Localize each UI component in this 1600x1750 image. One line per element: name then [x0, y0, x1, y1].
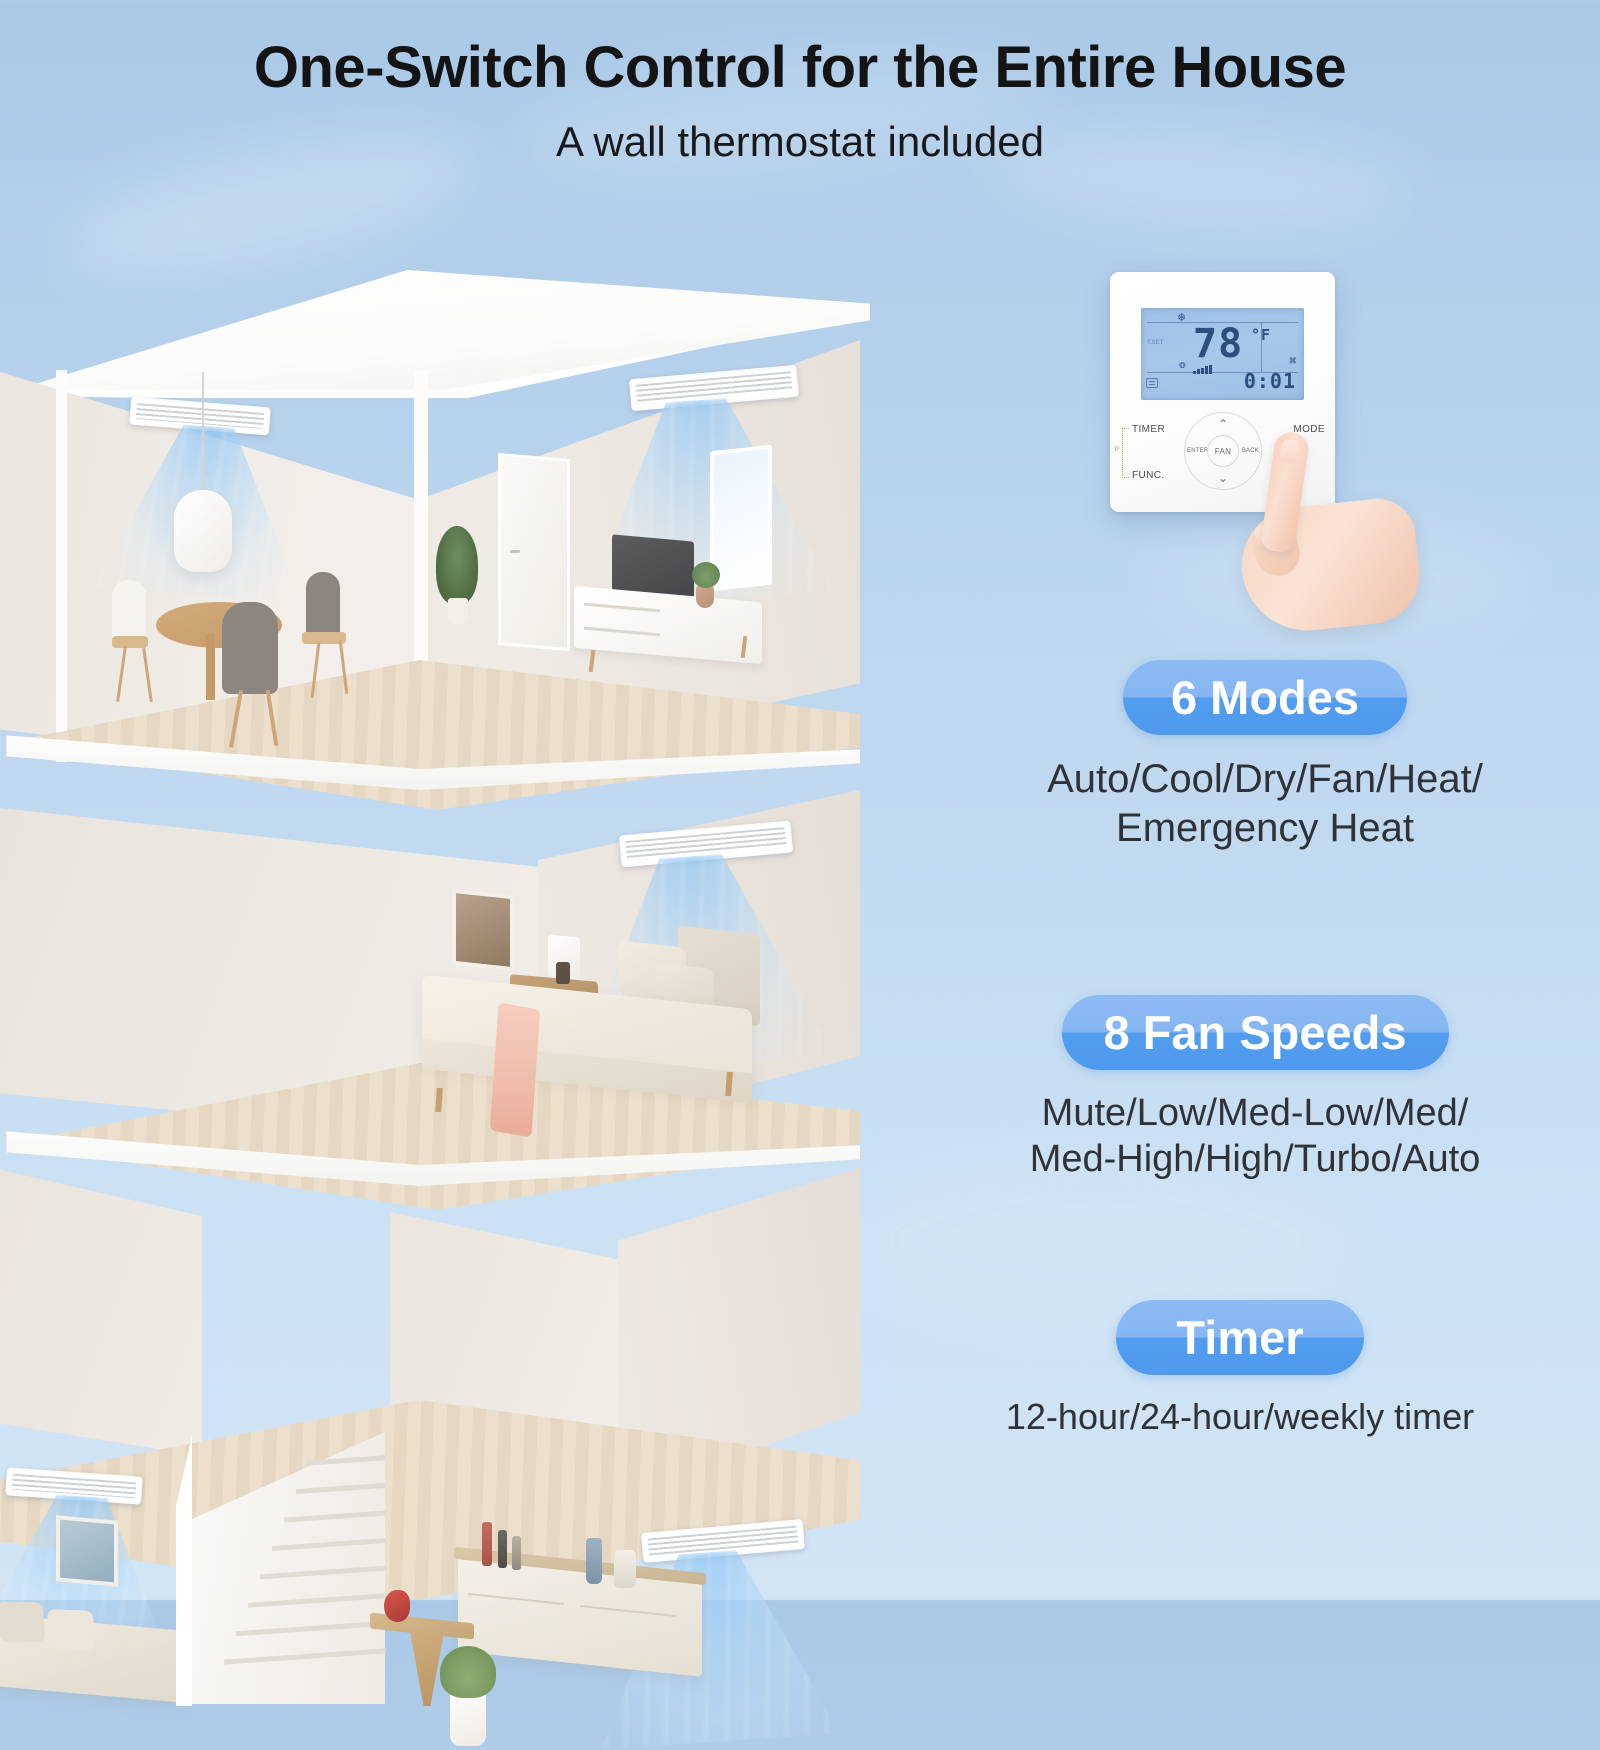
fan-button[interactable]: FAN	[1207, 435, 1239, 467]
decor-bottle	[512, 1536, 521, 1570]
house-cutaway-illustration	[0, 250, 920, 1610]
dining-table-leg	[206, 634, 215, 700]
vase-plant	[692, 562, 720, 588]
framed-art	[56, 1515, 118, 1586]
page-subheadline: A wall thermostat included	[0, 118, 1600, 166]
plant-pot	[448, 598, 468, 624]
sofa-cushion	[47, 1609, 95, 1651]
feature-timer: Timer 12-hour/24-hour/weekly timer	[900, 1300, 1580, 1439]
pendant-lamp-cord	[202, 372, 204, 494]
fan-speed-bars	[1193, 365, 1212, 374]
timer-caption: 12-hour/24-hour/weekly timer	[900, 1395, 1580, 1439]
wall-thermostat[interactable]: ❄ T.SET 78 °F ❂ ✖ 0:01 TIMER FUNC. MODE …	[1110, 272, 1335, 512]
framed-picture	[452, 889, 514, 972]
function-bracket	[1122, 428, 1129, 478]
vase-greenery	[440, 1646, 496, 1698]
down-arrow-button[interactable]: ⌄	[1218, 472, 1228, 484]
timer-button[interactable]: TIMER	[1132, 424, 1165, 435]
back-button[interactable]: BACK	[1242, 448, 1259, 454]
pink-throw-blanket	[490, 1002, 541, 1137]
tv	[612, 534, 694, 597]
navigation-dpad[interactable]: ⌃ ⌄ ENTER BACK FAN	[1184, 412, 1262, 490]
feature-fan-speeds: 8 Fan Speeds Mute/Low/Med-Low/Med/ Med-H…	[930, 995, 1580, 1183]
dining-chair	[112, 636, 148, 648]
fan-icon: ❂	[1179, 361, 1186, 370]
fan-speeds-caption: Mute/Low/Med-Low/Med/ Med-High/High/Turb…	[930, 1090, 1580, 1183]
dining-chair	[112, 580, 146, 642]
cloud-wisp	[1150, 520, 1530, 640]
nightstand-decor	[556, 962, 570, 984]
temperature-value: 78	[1193, 324, 1243, 364]
decor-vase	[586, 1538, 602, 1584]
window	[710, 445, 772, 592]
modes-caption: Auto/Cool/Dry/Fan/Heat/ Emergency Heat	[960, 755, 1570, 853]
door-handle	[510, 550, 520, 553]
calendar-icon	[1146, 378, 1158, 388]
door	[498, 453, 570, 651]
decor-vase	[614, 1550, 636, 1588]
lounge-back-wall	[0, 1156, 202, 1456]
console-table-leg	[410, 1632, 444, 1706]
timer-value: 0:01	[1244, 371, 1296, 391]
pendant-lamp	[174, 490, 232, 572]
up-arrow-button[interactable]: ⌃	[1218, 418, 1228, 430]
snowflake-icon: ❄	[1177, 311, 1186, 324]
func-button[interactable]: FUNC.	[1132, 470, 1165, 481]
sofa-cushion	[0, 1602, 45, 1643]
thumb	[1248, 514, 1305, 581]
setpoint-label: T.SET	[1147, 340, 1163, 346]
enter-button[interactable]: ENTER	[1187, 448, 1208, 454]
timer-pill-badge: Timer	[1116, 1300, 1363, 1375]
decor-bottle	[498, 1530, 507, 1568]
thermostat-lcd-display: ❄ T.SET 78 °F ❂ ✖ 0:01	[1141, 308, 1304, 400]
feature-modes: 6 Modes Auto/Cool/Dry/Fan/Heat/ Emergenc…	[960, 660, 1570, 853]
fan-speeds-pill-badge: 8 Fan Speeds	[1062, 995, 1449, 1070]
potted-plant	[436, 526, 478, 604]
red-decor-object	[384, 1590, 410, 1622]
decor-bottle	[482, 1522, 492, 1566]
mode-button[interactable]: MODE	[1293, 424, 1325, 435]
thumbnail	[1253, 523, 1275, 547]
lock-icon: ✖	[1289, 356, 1297, 367]
page-headline: One-Switch Control for the Entire House	[0, 34, 1600, 101]
modes-pill-badge: 6 Modes	[1123, 660, 1407, 735]
left-edge-pillar	[56, 370, 67, 762]
palm	[1236, 495, 1424, 637]
dining-chair	[222, 602, 278, 694]
temperature-unit: °F	[1251, 326, 1271, 344]
